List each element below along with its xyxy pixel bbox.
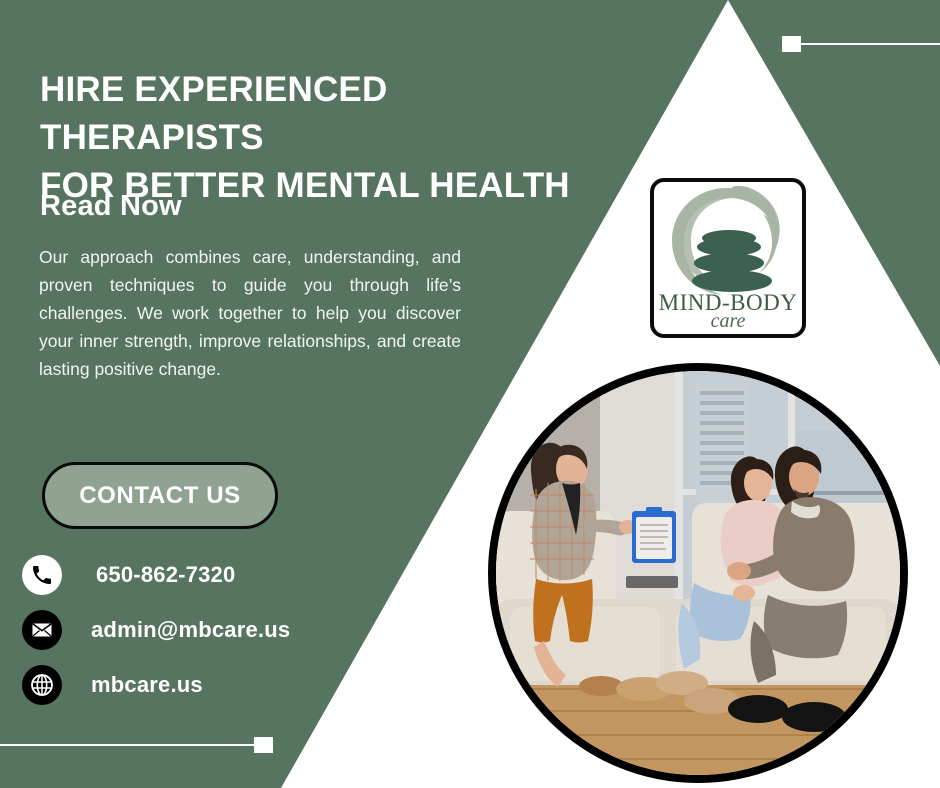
contact-list: 650-862-7320 admin@mbcare.us mbcare. (22, 548, 442, 712)
contact-us-button-label: CONTACT US (79, 482, 241, 510)
decoration-line (0, 744, 256, 746)
phone-icon (22, 555, 62, 595)
globe-icon (22, 665, 62, 705)
decoration-square-icon (782, 36, 801, 52)
contact-item-email[interactable]: admin@mbcare.us (22, 603, 442, 657)
decoration-bottom-left (0, 737, 273, 753)
contact-us-button[interactable]: CONTACT US (42, 462, 278, 529)
decoration-top-right (782, 36, 940, 52)
decoration-square-icon (254, 737, 273, 753)
subheading: Read Now (40, 190, 182, 223)
contact-website-value: mbcare.us (91, 672, 203, 698)
headline-line-1: HIRE EXPERIENCED THERAPISTS (40, 70, 387, 157)
mail-icon (22, 610, 62, 650)
brand-logo-card: MIND-BODY care (650, 178, 806, 338)
decoration-line (801, 43, 940, 45)
therapy-session-photo (496, 371, 900, 775)
body-paragraph: Our approach combines care, understandin… (39, 243, 461, 383)
page-title: HIRE EXPERIENCED THERAPISTS FOR BETTER M… (40, 66, 620, 210)
contact-email-value: admin@mbcare.us (91, 617, 290, 643)
stacked-stones-icon (682, 230, 782, 296)
contact-item-phone[interactable]: 650-862-7320 (22, 548, 442, 602)
contact-item-website[interactable]: mbcare.us (22, 658, 442, 712)
poster-canvas: HIRE EXPERIENCED THERAPISTS FOR BETTER M… (0, 0, 940, 788)
photo-circle-frame (488, 363, 908, 783)
logo-script-text: care (654, 310, 802, 333)
contact-phone-value: 650-862-7320 (96, 562, 235, 588)
